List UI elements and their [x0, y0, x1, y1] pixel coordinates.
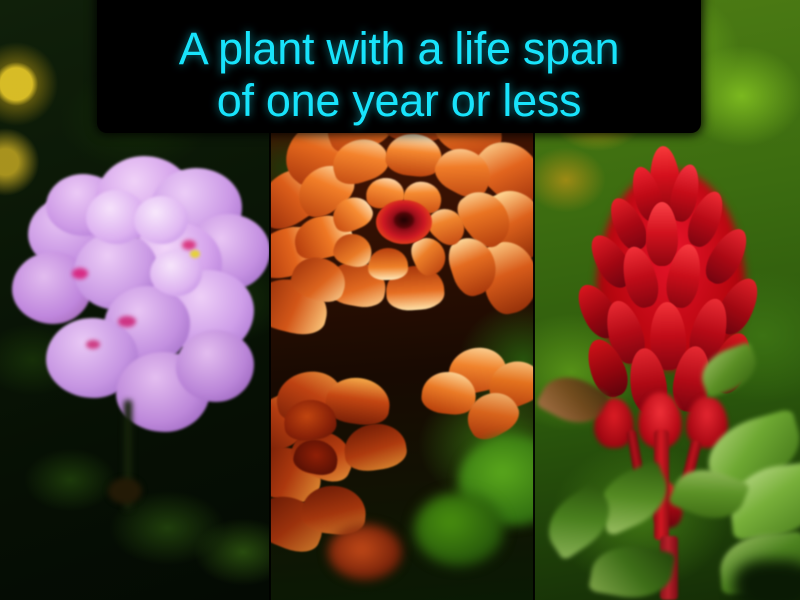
caption-banner: A plant with a life span of one year or … — [97, 0, 701, 133]
caption-line-1: A plant with a life span — [179, 23, 620, 75]
definition-card: A plant with a life span of one year or … — [0, 0, 800, 600]
caption-line-2: of one year or less — [217, 75, 582, 127]
